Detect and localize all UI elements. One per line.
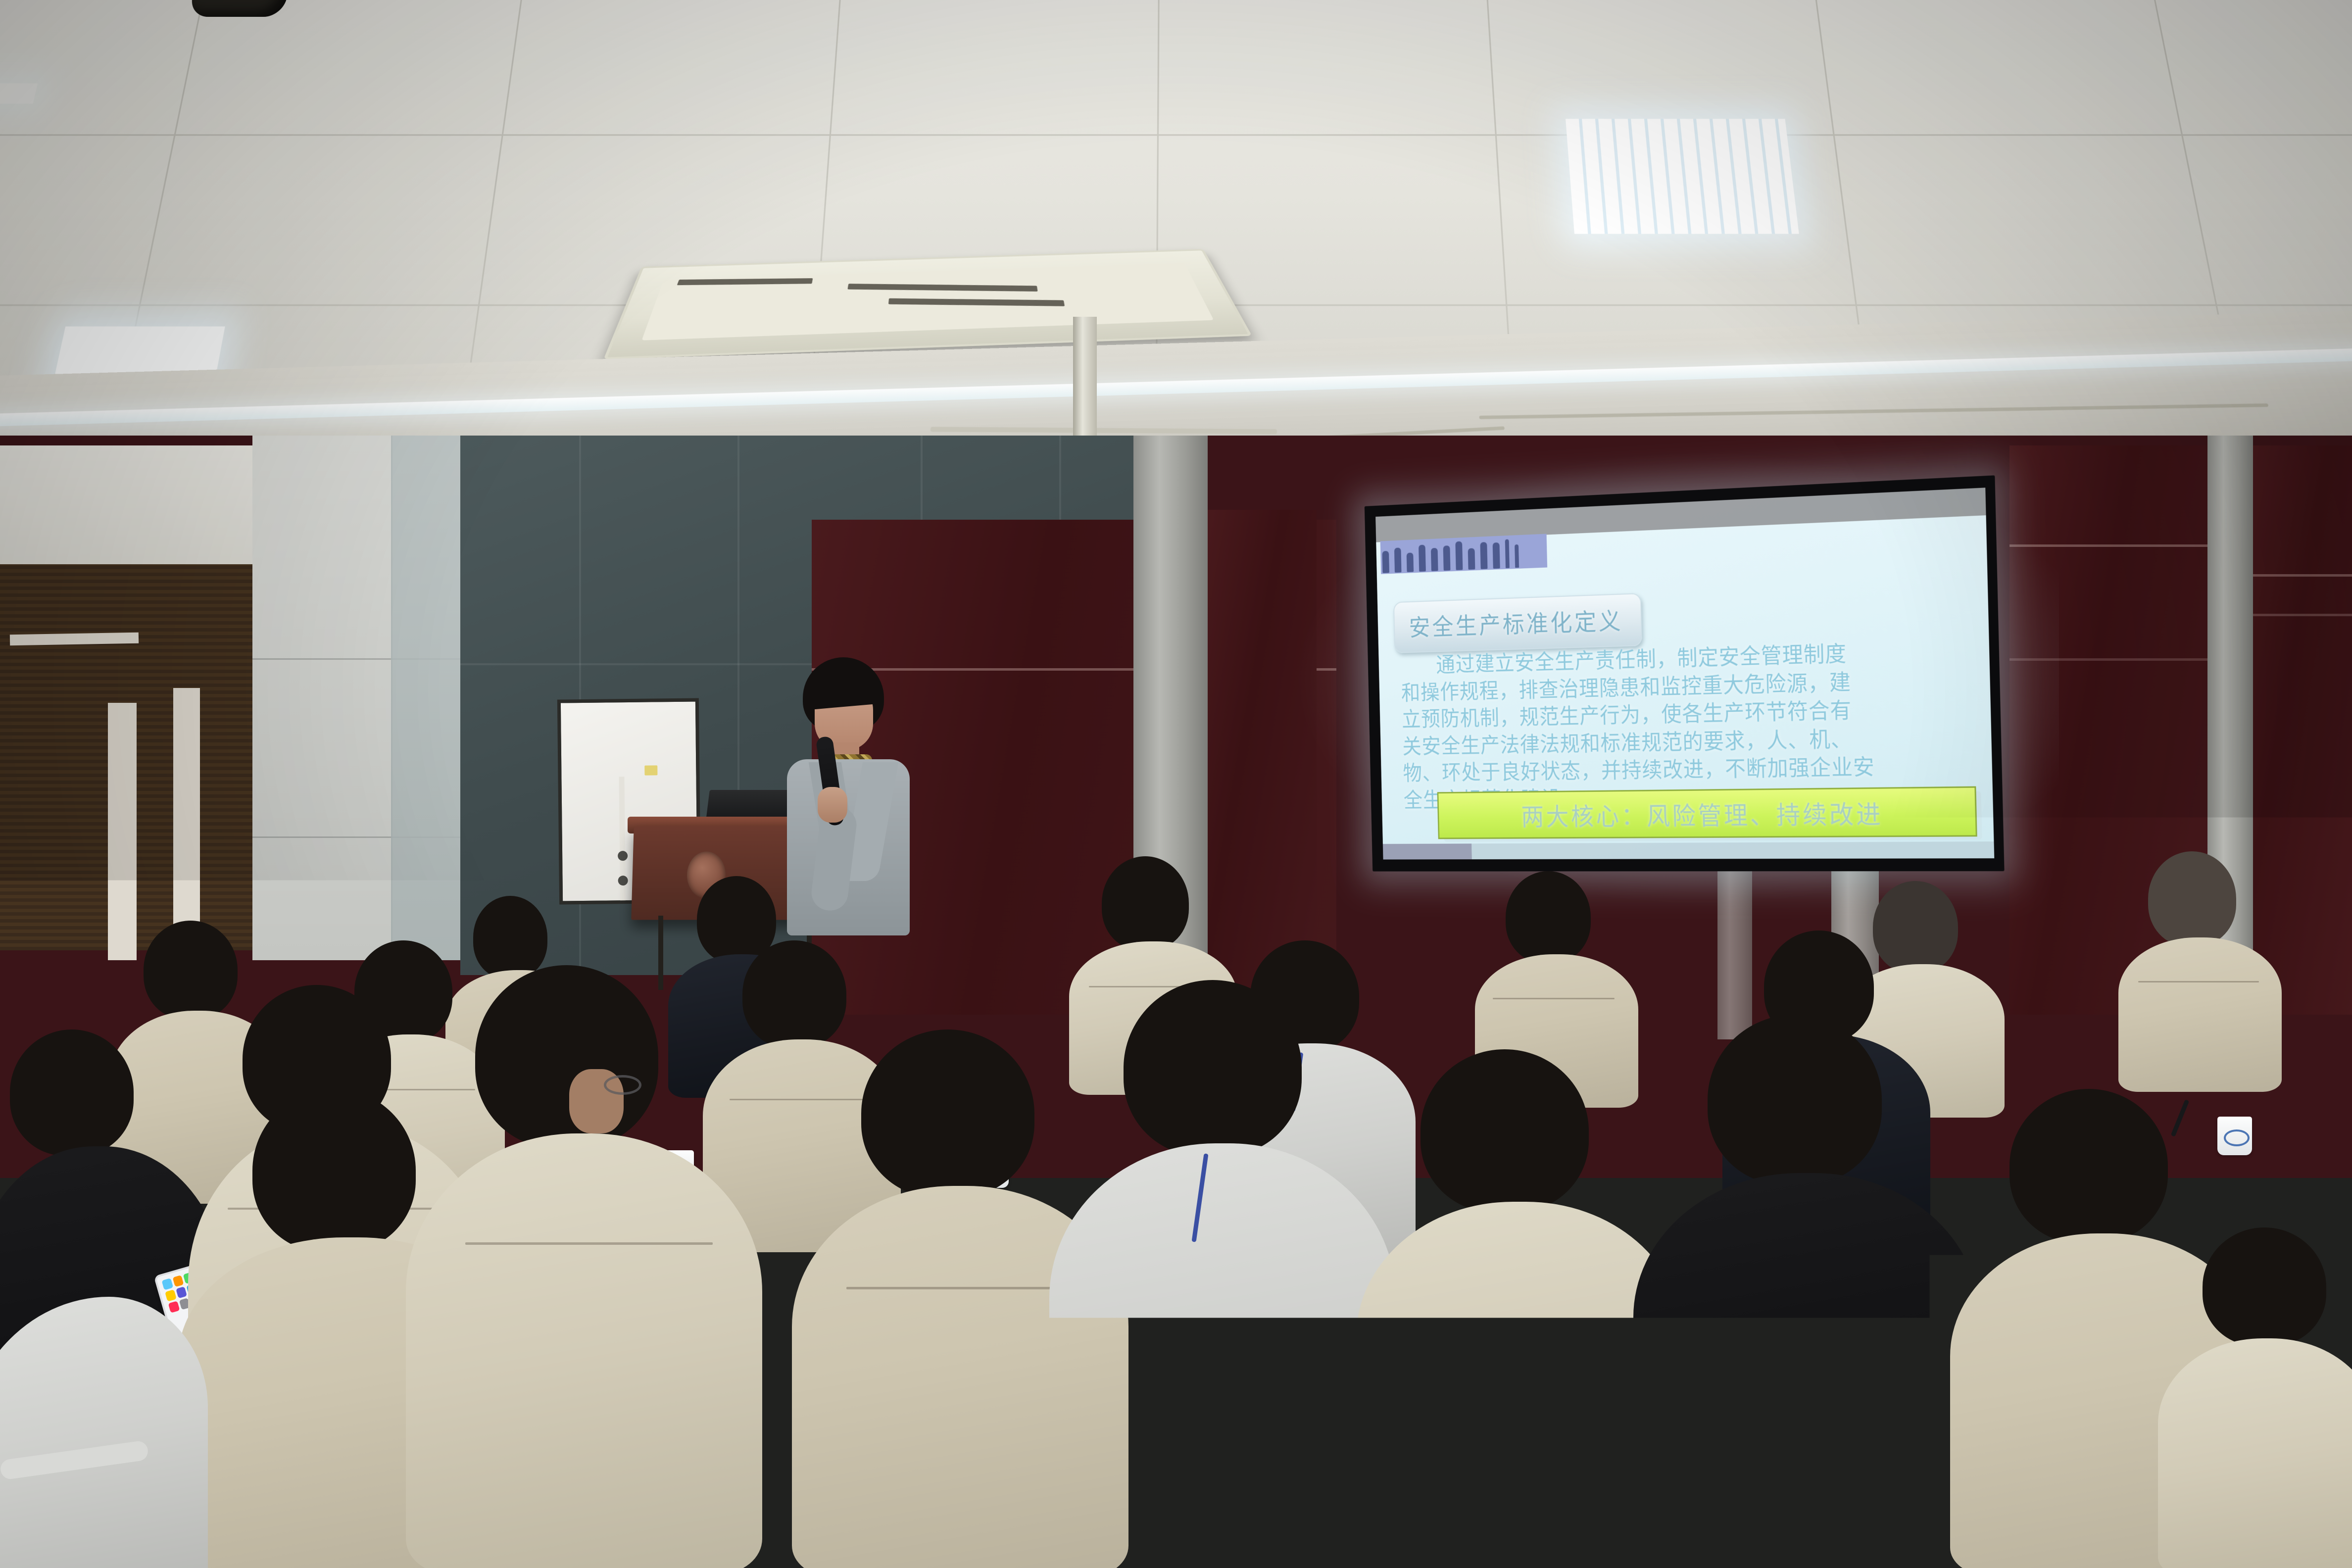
slide-title: 安全生产标准化定义 (1393, 593, 1642, 653)
seminar-room-photo: 安全生产标准化定义 通过建立安全生产责任制，制定安全管理制度 和操作规程，排查治… (0, 0, 2352, 1568)
ceiling-light-right (1566, 119, 1799, 234)
audience-member (1633, 1015, 1980, 1568)
audience-member (2158, 1227, 2352, 1568)
slide-bottom-band (1383, 841, 1994, 859)
audience-member (0, 1297, 208, 1568)
slide-highlight-banner: 两大核心：风险管理、持续改进 (1437, 786, 1977, 839)
presenter-hand (818, 787, 847, 823)
projection-screen: 安全生产标准化定义 通过建立安全生产责任制，制定安全管理制度 和操作规程，排查治… (1365, 475, 2005, 871)
slide-surface: 安全生产标准化定义 通过建立安全生产责任制，制定安全管理制度 和操作规程，排查治… (1375, 488, 1994, 859)
sticky-note (644, 765, 657, 775)
audience-member (406, 965, 762, 1568)
tile-wall-edge (391, 436, 470, 960)
whiteboard-knob (618, 851, 628, 861)
whiteboard-knob (618, 876, 628, 885)
wood-panel-strip (10, 633, 139, 646)
slide-bottom-band-accent (1383, 843, 1472, 859)
wood-wall-panel (0, 564, 277, 950)
wood-panel-strip (173, 688, 200, 935)
ceiling-light-far-left (0, 83, 38, 103)
people-silhouette-icon (1382, 537, 1519, 573)
audience-member (1049, 980, 1396, 1568)
audience-member (2118, 851, 2282, 1089)
